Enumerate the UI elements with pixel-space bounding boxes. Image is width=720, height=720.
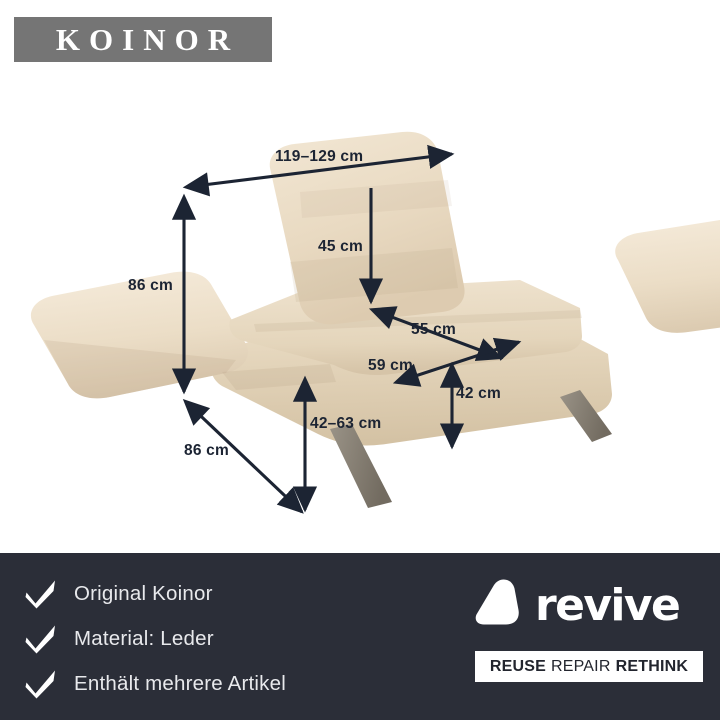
brand-name-text: KOINOR: [47, 24, 239, 55]
dimension-label-seat-depth: 55 cm: [411, 321, 456, 339]
feature-row: Material: Leder: [18, 616, 418, 661]
features-list: Original Koinor Material: Leder Enthält …: [18, 571, 418, 706]
feature-label: Original Koinor: [64, 582, 213, 606]
product-dimension-card: KOINOR: [0, 0, 720, 720]
revive-tagline: REUSE REPAIR RETHINK: [475, 651, 703, 682]
dimension-label-height-total: 86 cm: [128, 277, 173, 295]
revive-logo-block: revive REUSE REPAIR RETHINK: [473, 575, 705, 682]
revive-leaf-icon: [473, 576, 529, 637]
feature-row: Original Koinor: [18, 571, 418, 616]
armchair-body: [31, 132, 720, 508]
dimension-label-armrest-height: 42–63 cm: [310, 415, 381, 433]
dimension-label-depth-total: 86 cm: [184, 442, 229, 460]
armchair-diagram-svg: [0, 72, 720, 553]
footer-bar: Original Koinor Material: Leder Enthält …: [0, 553, 720, 720]
dimension-label-seat-width: 59 cm: [368, 357, 413, 375]
dimension-label-seat-height: 42 cm: [456, 385, 501, 403]
feature-row: Enthält mehrere Artikel: [18, 661, 418, 706]
revive-mark-row: revive: [473, 575, 705, 637]
tagline-word-repair: REPAIR: [551, 658, 611, 676]
revive-wordmark: revive: [529, 584, 679, 628]
tagline-word-reuse: REUSE: [490, 658, 546, 676]
koinor-brand-logo: KOINOR: [14, 17, 272, 62]
check-icon: [18, 578, 64, 610]
check-icon: [18, 623, 64, 655]
tagline-word-rethink: RETHINK: [616, 658, 689, 676]
feature-label: Material: Leder: [64, 627, 214, 651]
product-illustration: 119–129 cm 86 cm 45 cm 55 cm 59 cm 42 cm…: [0, 72, 720, 553]
feature-label: Enthält mehrere Artikel: [64, 672, 286, 696]
check-icon: [18, 668, 64, 700]
right-armrest: [615, 214, 720, 333]
dimension-label-width-total: 119–129 cm: [275, 148, 363, 166]
dimension-label-backrest-height: 45 cm: [318, 238, 363, 256]
